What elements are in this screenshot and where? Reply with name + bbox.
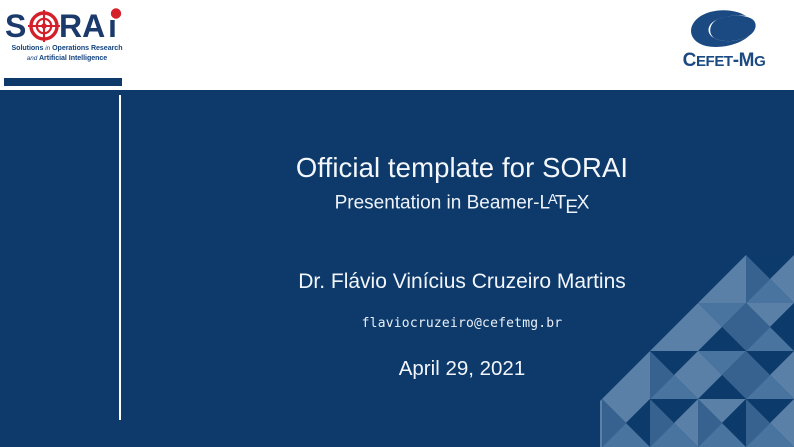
sorai-logo: S RA ı Solutions in Operations Research … xyxy=(4,6,130,82)
author-email: flaviocruzeiro@cefetmg.br xyxy=(362,316,563,331)
sorai-wordmark-icon: S RA ı xyxy=(4,6,130,46)
cefet-letter-m: M xyxy=(739,50,754,71)
cefet-mg-logo: CEFET-MG xyxy=(672,6,776,80)
crosshair-target-icon xyxy=(28,10,60,42)
subtitle-prefix: Presentation in Beamer- xyxy=(335,192,540,213)
tagline-and: and xyxy=(27,55,38,62)
cefet-swoosh-icon xyxy=(684,6,764,50)
title-block: Official template for SORAI Presentation… xyxy=(130,90,794,447)
cefet-wordmark: CEFET-MG xyxy=(672,50,776,72)
latex-logo: LATEX xyxy=(539,192,589,219)
slide-date: April 29, 2021 xyxy=(399,357,526,381)
vertical-divider xyxy=(119,95,121,420)
svg-text:S: S xyxy=(5,8,26,44)
tagline-tail: Operations Research xyxy=(52,44,122,52)
slide-body: Official template for SORAI Presentation… xyxy=(0,90,794,447)
slide-subtitle: Presentation in Beamer-LATEX xyxy=(335,192,590,219)
sorai-tagline: Solutions in Operations Research and Art… xyxy=(4,44,130,63)
cefet-letter-g: G xyxy=(754,53,765,70)
author-name: Dr. Flávio Vinícius Cruzeiro Martins xyxy=(298,270,626,294)
sorai-dot-icon xyxy=(111,8,121,18)
slide-title: Official template for SORAI xyxy=(296,152,628,184)
tagline-tail-2: Artificial Intelligence xyxy=(39,54,107,62)
slide-header: S RA ı Solutions in Operations Research … xyxy=(0,0,794,90)
tagline-lead: Solutions xyxy=(11,44,43,52)
cefet-letter-c: C xyxy=(683,50,696,71)
presentation-slide: S RA ı Solutions in Operations Research … xyxy=(0,0,794,447)
svg-text:RA: RA xyxy=(59,8,105,44)
sorai-underline-bar xyxy=(4,78,122,86)
cefet-letters-efet: EFET xyxy=(696,53,733,70)
tagline-in: in xyxy=(45,45,50,52)
